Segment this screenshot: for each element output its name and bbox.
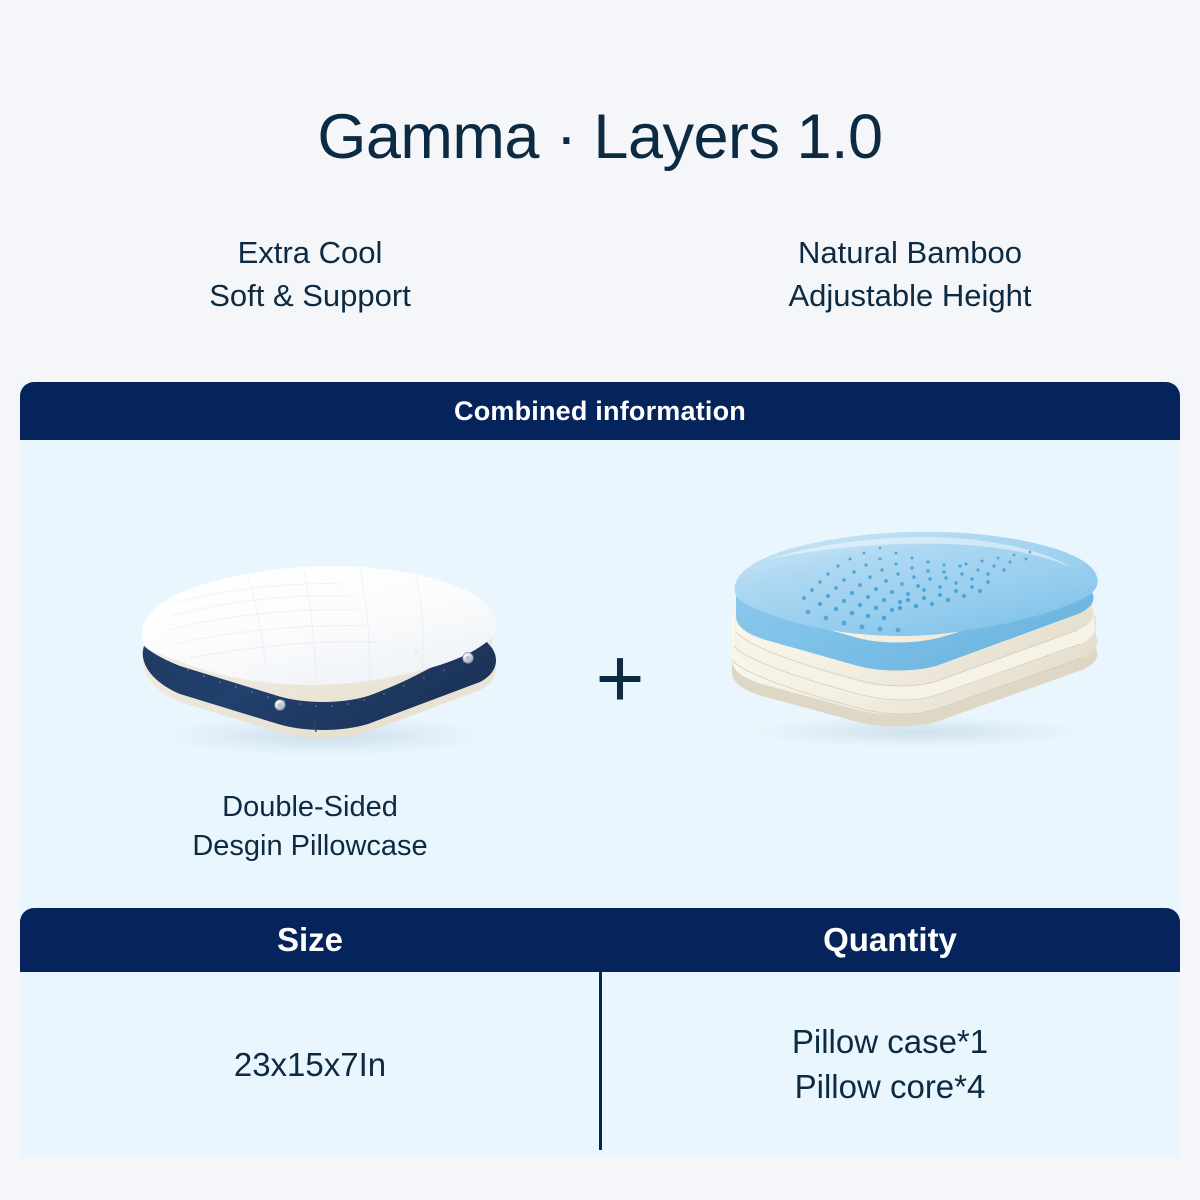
spec-table-body: 23x15x7In Pillow case*1 Pillow core*4 [20, 972, 1180, 1158]
feature-2-line-1: Natural Bamboo [620, 232, 1200, 275]
pillowcase-illustration: nenebay ® [40, 532, 580, 764]
quantity-value-line-2: Pillow core*4 [792, 1065, 988, 1110]
combined-information-card: Combined information [20, 382, 1180, 1158]
page-title: Gamma · Layers 1.0 [0, 101, 1200, 173]
table-header-size: Size [20, 908, 600, 972]
pillowcase-caption-line-1: Double-Sided [40, 788, 580, 827]
table-cell-size: 23x15x7In [20, 972, 600, 1158]
pillowcase-image: nenebay ® [128, 550, 508, 760]
product-pillowcase: nenebay ® Double-Sided Desgin Pillowcase [40, 532, 580, 866]
feature-list: Extra Cool Soft & Support Natural Bamboo… [0, 232, 1200, 318]
combined-information-header: Combined information [20, 382, 1180, 440]
pillowcase-caption: Double-Sided Desgin Pillowcase [40, 788, 580, 866]
table-header-quantity: Quantity [600, 908, 1180, 972]
size-value: 23x15x7In [234, 1043, 386, 1088]
feature-column-1: Extra Cool Soft & Support [0, 232, 620, 318]
foam-core-image [708, 520, 1118, 750]
spec-table-header: Size Quantity [20, 908, 1180, 972]
feature-2-line-2: Adjustable Height [620, 275, 1200, 318]
feature-1-line-2: Soft & Support [0, 275, 620, 318]
table-column-divider [599, 972, 602, 1150]
product-comparison-area: nenebay ® Double-Sided Desgin Pillowcase [20, 440, 1180, 908]
feature-1-line-1: Extra Cool [0, 232, 620, 275]
table-cell-quantity: Pillow case*1 Pillow core*4 [600, 972, 1180, 1158]
pillowcase-caption-line-2: Desgin Pillowcase [40, 827, 580, 866]
product-foam-core [640, 512, 1160, 768]
foam-core-illustration [640, 512, 1160, 744]
feature-column-2: Natural Bamboo Adjustable Height [620, 232, 1200, 318]
quantity-value-line-1: Pillow case*1 [792, 1020, 988, 1065]
